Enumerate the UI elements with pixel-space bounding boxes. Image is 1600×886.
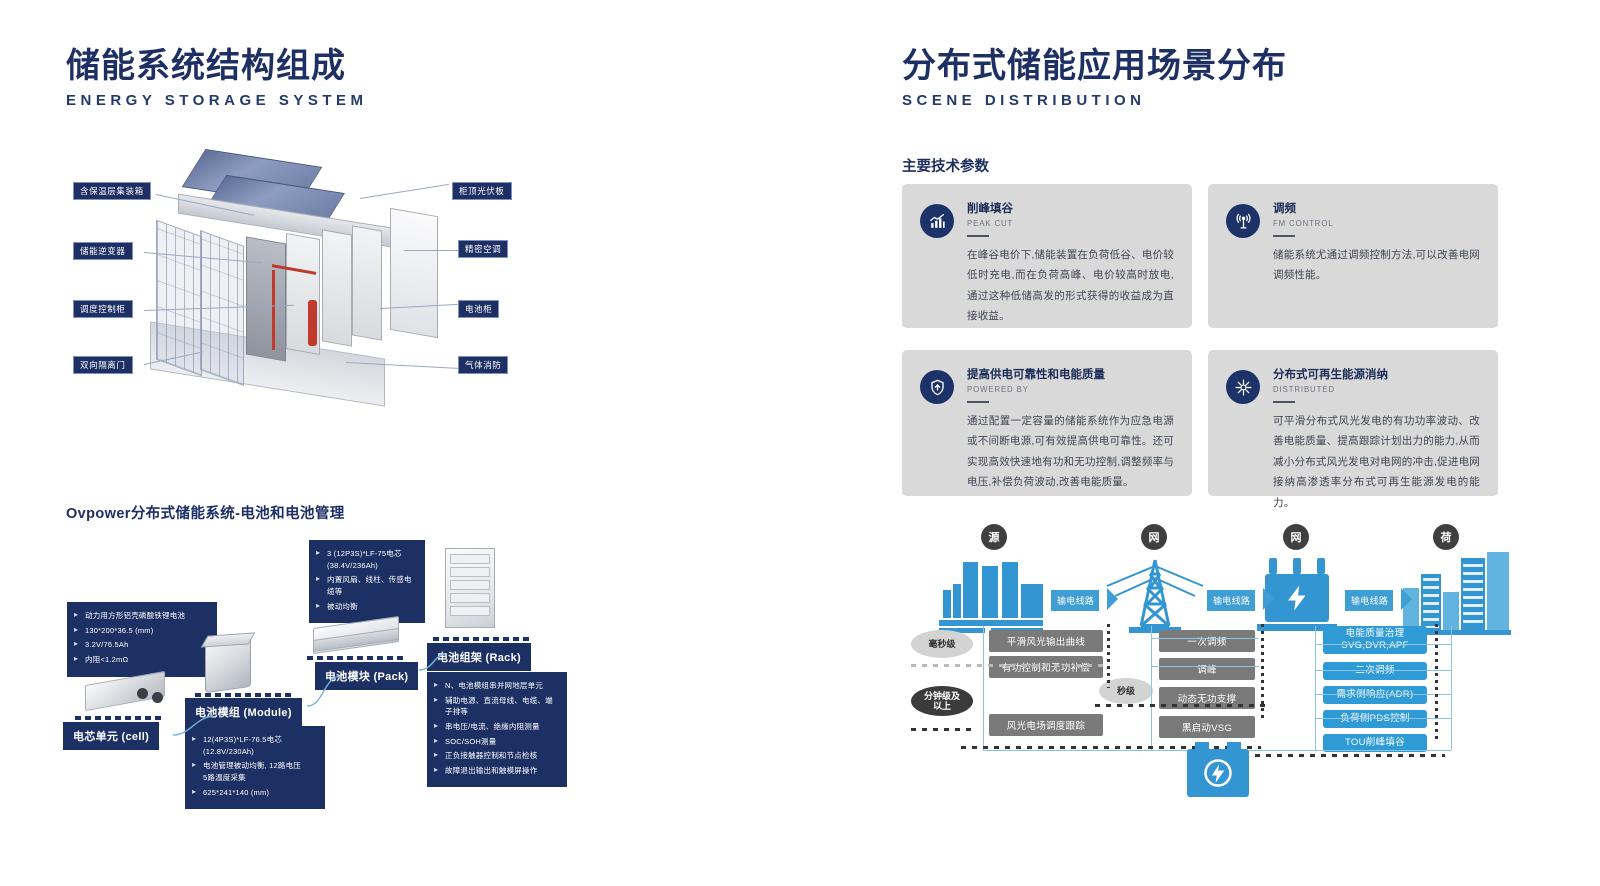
flow-node-badge-grid-1: 网 <box>1141 524 1167 550</box>
rack-spec-box: N、电池模组串并网地层单元 辅助电源、直流母线、电缆、端子排等 串电压/电流、绝… <box>427 672 567 787</box>
flow-dots-load <box>1435 624 1438 742</box>
battery-chain-subtitle: Ovpower分布式储能系统-电池和电池管理 <box>66 502 345 523</box>
flow-vline-source <box>983 626 984 750</box>
diagram-label-right-1: 精密空调 <box>458 240 508 258</box>
energy-storage-inverter <box>246 236 286 361</box>
flow-dots-source <box>1107 624 1110 688</box>
flow-hline-load-3 <box>1315 718 1451 719</box>
pack-spec-item: 内置风扇、线柱、传感电缆等 <box>316 574 417 597</box>
rack-slot <box>450 567 490 577</box>
cell-spec-item: 130*200*36.5 (mm) <box>74 625 209 637</box>
battery-chain-diagram: 动力用方形铝壳磷酸铁锂电池 130*200*36.5 (mm) 3.2V/76.… <box>55 530 575 800</box>
flow-vline-right <box>1451 626 1452 750</box>
module-spec-item: 625*241*140 (mm) <box>192 787 317 799</box>
cell-product-image <box>85 671 165 711</box>
shield-icon <box>920 370 954 404</box>
card-body: 调频 FM CONTROL 储能系统尤通过调频控制方法,可以改善电网调频性能。 <box>1273 202 1480 310</box>
rack-spec-item: N、电池模组串并网地层单元 <box>434 680 559 692</box>
flow-hline-grid-1 <box>1151 666 1259 667</box>
gas-fire-suppression-pipe <box>272 270 275 350</box>
leader-right-1 <box>404 250 458 251</box>
cell-name-tag: 电芯单元 (cell) <box>63 722 159 750</box>
flow-dots-battery-link <box>1255 754 1445 757</box>
card-rule <box>967 235 989 237</box>
flow-dots-min <box>911 728 971 731</box>
left-title-en: ENERGY STORAGE SYSTEM <box>66 92 368 109</box>
card-description: 可平滑分布式风光发电的有功功率波动、改善电能质量、提高跟踪计划出力的能力,从而减… <box>1273 411 1480 513</box>
flow-grid-item-1: 调峰 <box>1159 658 1255 680</box>
cell-spec-item: 3.2V/76.5Ah <box>74 639 209 651</box>
flow-arrow-head-1 <box>1263 588 1274 610</box>
pack-spec-line-a: 3 (12P3S)*LF-75电芯 <box>327 549 402 558</box>
battery-storage-icon[interactable] <box>1187 742 1251 798</box>
feature-card-fm-control[interactable]: 调频 FM CONTROL 储能系统尤通过调频控制方法,可以改善电网调频性能。 <box>1208 184 1498 328</box>
cell-spec-item: 动力用方形铝壳磷酸铁锂电池 <box>74 610 209 622</box>
rack-spec-item: 串电压/电流、绝缘内阻测量 <box>434 721 559 733</box>
left-title-cn: 储能系统结构组成 <box>66 48 368 85</box>
module-spec-item: 12(4P3S)*LF-76.5电芯 (12.8V/230Ah) <box>192 734 317 757</box>
diagram-label-right-0: 柜顶光伏板 <box>452 182 512 200</box>
module-spec-line-b: 5路温度采集 <box>203 772 317 784</box>
scene-flow-diagram: 源 网 网 荷 <box>905 520 1525 820</box>
diagram-label-left-2: 调度控制柜 <box>73 300 133 318</box>
card-rule <box>967 401 989 403</box>
flow-hline-load-1 <box>1315 670 1451 671</box>
card-title-cn: 分布式可再生能源消纳 <box>1273 368 1480 383</box>
feature-card-distributed[interactable]: 分布式可再生能源消纳 DISTRIBUTED 可平滑分布式风光发电的有功功率波动… <box>1208 350 1498 496</box>
diagram-label-left-1: 储能逆变器 <box>73 242 133 260</box>
rack-name-tag: 电池组架 (Rack) <box>427 643 531 671</box>
flow-arrow-label-0: 输电线路 <box>1051 590 1099 611</box>
flow-arrow-head-2 <box>1401 588 1412 610</box>
card-description: 在峰谷电价下,储能装置在负荷低谷、电价较低时充电,而在负荷高峰、电价较高时放电,… <box>967 245 1174 327</box>
flow-node-badge-load: 荷 <box>1433 524 1459 550</box>
flow-arrow-label-1: 输电线路 <box>1207 590 1255 611</box>
chart-bar-icon <box>920 204 954 238</box>
container-illustration: 含保温层集装箱 储能逆变器 调度控制柜 双向隔离门 柜顶光伏板 精密空调 电池柜… <box>60 150 560 410</box>
pack-dash-divider <box>307 656 403 660</box>
rack-spec-item: 正负接触器控制和节点检核 <box>434 750 559 762</box>
flow-node-badge-grid-2: 网 <box>1283 524 1309 550</box>
flow-grid-item-0: 一次调频 <box>1159 630 1255 652</box>
left-section-header: 储能系统结构组成 ENERGY STORAGE SYSTEM <box>66 48 368 109</box>
flow-arrow-head-0 <box>1107 588 1118 610</box>
module-spec-line-a: 电池管理被动均衡, 12路电压 <box>203 761 301 770</box>
card-body: 削峰填谷 PEAK CUT 在峰谷电价下,储能装置在负荷低谷、电价较低时充电,而… <box>967 202 1174 310</box>
card-body: 提高供电可靠性和电能质量 POWERED BY 通过配置一定容量的储能系统作为应… <box>967 368 1174 478</box>
pack-spec-box: 3 (12P3S)*LF-75电芯 (38.4V/236Ah) 内置风扇、线柱、… <box>309 540 425 623</box>
leader-right-0 <box>360 184 449 199</box>
card-title-en: DISTRIBUTED <box>1273 385 1480 394</box>
card-description: 储能系统尤通过调频控制方法,可以改善电网调频性能。 <box>1273 245 1480 286</box>
flow-hline-grid-0 <box>1151 638 1259 639</box>
antenna-icon <box>1226 204 1260 238</box>
module-spec-item: 电池管理被动均衡, 12路电压 5路温度采集 <box>192 760 317 783</box>
flow-node-badge-source: 源 <box>981 524 1007 550</box>
flow-arrow-label-2: 输电线路 <box>1345 590 1393 611</box>
rack-slot <box>450 554 490 564</box>
flow-load-item-0: 电能质量治理 SVG,DVR,APF <box>1323 626 1427 654</box>
gas-fire-suppression-tank <box>308 300 317 346</box>
cell-spec-box: 动力用方形铝壳磷酸铁锂电池 130*200*36.5 (mm) 3.2V/76.… <box>67 602 217 677</box>
flow-dots-sec <box>1095 704 1265 707</box>
card-title-cn: 调频 <box>1273 202 1480 217</box>
pack-spec-item: 3 (12P3S)*LF-75电芯 (38.4V/236Ah) <box>316 548 417 571</box>
right-title-en: SCENE DISTRIBUTION <box>902 92 1287 109</box>
precision-air-conditioner <box>390 208 438 338</box>
poster-page: 储能系统结构组成 ENERGY STORAGE SYSTEM 含保温层集装箱 储… <box>0 0 1600 886</box>
card-title-cn: 提高供电可靠性和电能质量 <box>967 368 1174 383</box>
card-description: 通过配置一定容量的储能系统作为应急电源或不间断电源,可有效提高供电可靠性。还可实… <box>967 411 1174 493</box>
flow-source-item-0: 平滑风光输出曲线 <box>989 630 1103 652</box>
timescale-minute: 分钟级及 以上 <box>911 686 973 716</box>
right-section-header: 分布式储能应用场景分布 SCENE DISTRIBUTION <box>902 48 1287 109</box>
flow-grid-item-3: 黑启动VSG <box>1159 716 1255 738</box>
card-rule <box>1273 401 1295 403</box>
module-spec-box: 12(4P3S)*LF-76.5电芯 (12.8V/230Ah) 电池管理被动均… <box>185 726 325 809</box>
card-rule <box>1273 235 1295 237</box>
card-title-en: POWERED BY <box>967 385 1174 394</box>
rack-slot <box>450 606 490 616</box>
rack-slot <box>450 593 490 603</box>
battery-cabinet-1 <box>322 229 352 346</box>
rack-dash-divider <box>433 637 529 641</box>
module-dash-divider <box>195 693 291 697</box>
timescale-millisecond: 毫秒级 <box>911 630 973 658</box>
rack-spec-item: SOC/SOH测量 <box>434 736 559 748</box>
flow-hline-load-0 <box>1315 644 1451 645</box>
rack-spec-item: 辅助电源、直流母线、电缆、端子排等 <box>434 695 559 718</box>
cell-terminal-1 <box>137 688 148 699</box>
cell-spec-item: 内阻<1.2mΩ <box>74 654 209 666</box>
flow-dots-ms <box>911 664 1107 667</box>
diagram-label-right-3: 气体消防 <box>458 356 508 374</box>
flow-source-item-2: 风光电场调度跟踪 <box>989 714 1103 736</box>
cell-terminal-2 <box>152 692 163 703</box>
pack-spec-line-b: (38.4V/236Ah) <box>327 560 417 572</box>
diagram-label-right-2: 电池柜 <box>458 300 499 318</box>
card-title-en: FM CONTROL <box>1273 219 1480 228</box>
card-body: 分布式可再生能源消纳 DISTRIBUTED 可平滑分布式风光发电的有功功率波动… <box>1273 368 1480 478</box>
cell-dash-divider <box>75 716 161 720</box>
tech-params-title: 主要技术参数 <box>902 155 989 176</box>
flow-hline-load-2 <box>1315 694 1451 695</box>
pack-spec-item: 被动均衡 <box>316 601 417 613</box>
card-title-cn: 削峰填谷 <box>967 202 1174 217</box>
flow-source-item-1: 有功控制和无功补偿 <box>989 656 1103 678</box>
rack-slot <box>450 580 490 590</box>
factory-icon <box>939 562 1045 632</box>
card-title-en: PEAK CUT <box>967 219 1174 228</box>
battery-cabinet-2 <box>352 225 382 340</box>
buildings-icon <box>1401 550 1511 636</box>
flow-vline-grid <box>1151 626 1152 750</box>
diagram-label-left-3: 双向隔离门 <box>73 356 133 374</box>
snowflake-icon <box>1226 370 1260 404</box>
module-name-tag: 电池模组 (Module) <box>185 698 302 726</box>
right-title-cn: 分布式储能应用场景分布 <box>902 48 1287 85</box>
pack-name-tag: 电池模块 (Pack) <box>315 662 418 690</box>
feature-card-powered-by[interactable]: 提高供电可靠性和电能质量 POWERED BY 通过配置一定容量的储能系统作为应… <box>902 350 1192 496</box>
diagram-label-left-0: 含保温层集装箱 <box>73 182 151 200</box>
rack-spec-item: 故障退出输出和触模屏操作 <box>434 765 559 777</box>
feature-card-peak-cut[interactable]: 削峰填谷 PEAK CUT 在峰谷电价下,储能装置在负荷低谷、电价较低时充电,而… <box>902 184 1192 328</box>
